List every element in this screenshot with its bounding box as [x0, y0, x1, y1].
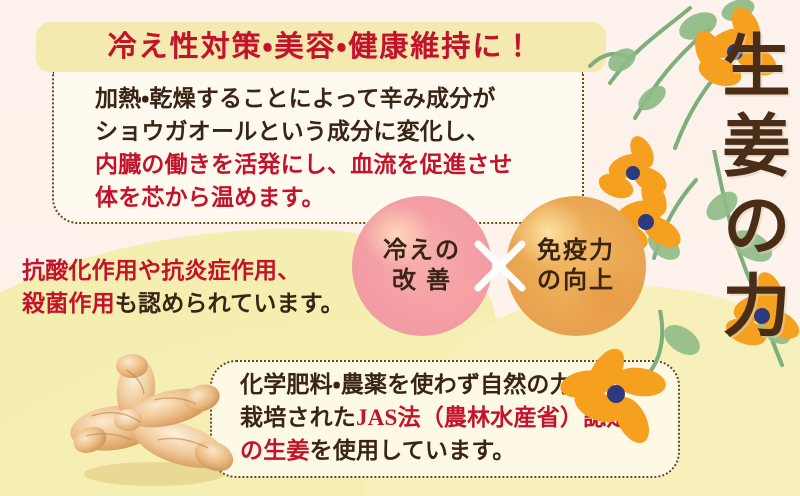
middle-line-2-red: 殺菌作用	[22, 291, 115, 316]
middle-line-1: 抗酸化作用や抗炎症作用、	[22, 256, 344, 286]
top-line-1: 加熱・乾燥することによって辛み成分が	[95, 84, 513, 114]
bottom-line-1: 化学肥料・農薬を使わず自然の力で	[240, 370, 630, 400]
advertisement-canvas: 冷え性対策・美容・健康維持に！ 生姜の力 加熱・乾燥することによって辛み成分が …	[0, 0, 800, 496]
cross-multiply-icon	[470, 236, 530, 296]
bottom-paragraph: 化学肥料・農薬を使わず自然の力で 栽培されたJAS法（農林水産省）認定 の生姜を…	[240, 370, 630, 469]
middle-line-2-dark: も認められています。	[115, 291, 344, 316]
top-line-3: 内臓の働きを活発にし、血流を促進させ	[95, 150, 513, 180]
bottom-line-3-red: の生姜	[240, 438, 310, 463]
page-title-vertical: 生姜の力	[664, 30, 784, 350]
header-banner: 冷え性対策・美容・健康維持に！	[36, 22, 606, 72]
ginger-root-photo	[62, 352, 242, 492]
circle-pink-line-1: 冷えの	[383, 236, 461, 266]
top-paragraph: 加熱・乾燥することによって辛み成分が ショウガオールという成分に変化し、 内臓の…	[95, 84, 513, 216]
circle-pink-line-2: 改 善	[383, 266, 461, 296]
header-banner-text: 冷え性対策・美容・健康維持に！	[108, 33, 535, 62]
circle-orange-line-2: の向上	[537, 266, 615, 296]
top-line-2: ショウガオールという成分に変化し、	[95, 117, 513, 147]
bottom-line-2-red: JAS法（農林水産省）認定	[356, 405, 630, 430]
middle-paragraph: 抗酸化作用や抗炎症作用、 殺菌作用も認められています。	[22, 256, 344, 322]
bottom-line-3-dark: を使用しています。	[310, 438, 516, 463]
circle-orange-line-1: 免疫力	[537, 236, 615, 266]
bottom-line-2-dark: 栽培された	[240, 405, 356, 430]
